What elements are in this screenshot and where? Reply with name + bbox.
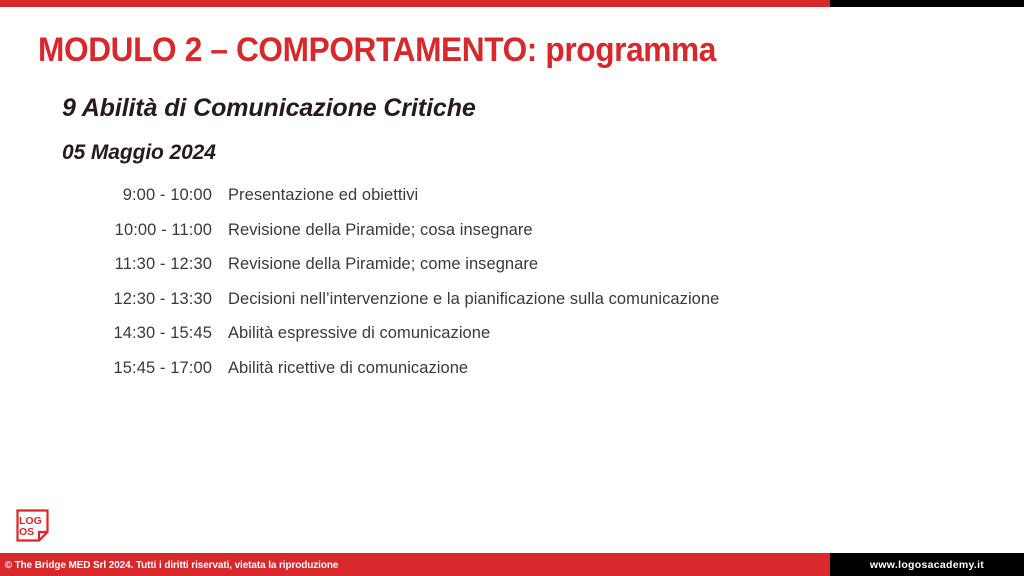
schedule-time: 12:30 - 13:30 (78, 290, 212, 309)
schedule-time: 11:30 - 12:30 (78, 255, 212, 274)
schedule-row: 15:45 - 17:00 Abilità ricettive di comun… (78, 359, 958, 394)
page-subtitle: 9 Abilità di Comunicazione Critiche (62, 94, 476, 123)
schedule-time: 14:30 - 15:45 (78, 324, 212, 343)
footer-copyright-text: © The Bridge MED Srl 2024. Tutti i dirit… (0, 559, 338, 571)
schedule-time: 9:00 - 10:00 (78, 186, 212, 205)
logos-brand-logo-icon: LOG OS (15, 508, 50, 542)
schedule-description: Revisione della Piramide; come insegnare (228, 255, 538, 274)
slide-root: MODULO 2 – COMPORTAMENTO: programma 9 Ab… (0, 0, 1024, 576)
schedule-description: Revisione della Piramide; cosa insegnare (228, 221, 533, 240)
page-date: 05 Maggio 2024 (62, 141, 216, 165)
schedule-row: 12:30 - 13:30 Decisioni nell’intervenzio… (78, 290, 958, 325)
page-title: MODULO 2 – COMPORTAMENTO: programma (38, 31, 716, 70)
schedule-description: Abilità ricettive di comunicazione (228, 359, 468, 378)
schedule-row: 11:30 - 12:30 Revisione della Piramide; … (78, 255, 958, 290)
svg-text:OS: OS (19, 526, 34, 538)
schedule-list: 9:00 - 10:00 Presentazione ed obiettivi … (78, 186, 958, 393)
schedule-description: Decisioni nell’intervenzione e la pianif… (228, 290, 719, 309)
footer-website-link[interactable]: www.logosacademy.it (870, 559, 984, 571)
footer-website-area: www.logosacademy.it (830, 553, 1024, 576)
schedule-row: 14:30 - 15:45 Abilità espressive di comu… (78, 324, 958, 359)
top-accent-bar-red (0, 0, 830, 7)
schedule-description: Presentazione ed obiettivi (228, 186, 418, 205)
top-accent-bar (0, 0, 1024, 7)
schedule-row: 9:00 - 10:00 Presentazione ed obiettivi (78, 186, 958, 221)
footer-copyright-area: © The Bridge MED Srl 2024. Tutti i dirit… (0, 553, 830, 576)
schedule-row: 10:00 - 11:00 Revisione della Piramide; … (78, 221, 958, 256)
schedule-time: 10:00 - 11:00 (78, 221, 212, 240)
schedule-time: 15:45 - 17:00 (78, 359, 212, 378)
footer-bar: © The Bridge MED Srl 2024. Tutti i dirit… (0, 553, 1024, 576)
top-accent-bar-black (830, 0, 1024, 7)
schedule-description: Abilità espressive di comunicazione (228, 324, 490, 343)
